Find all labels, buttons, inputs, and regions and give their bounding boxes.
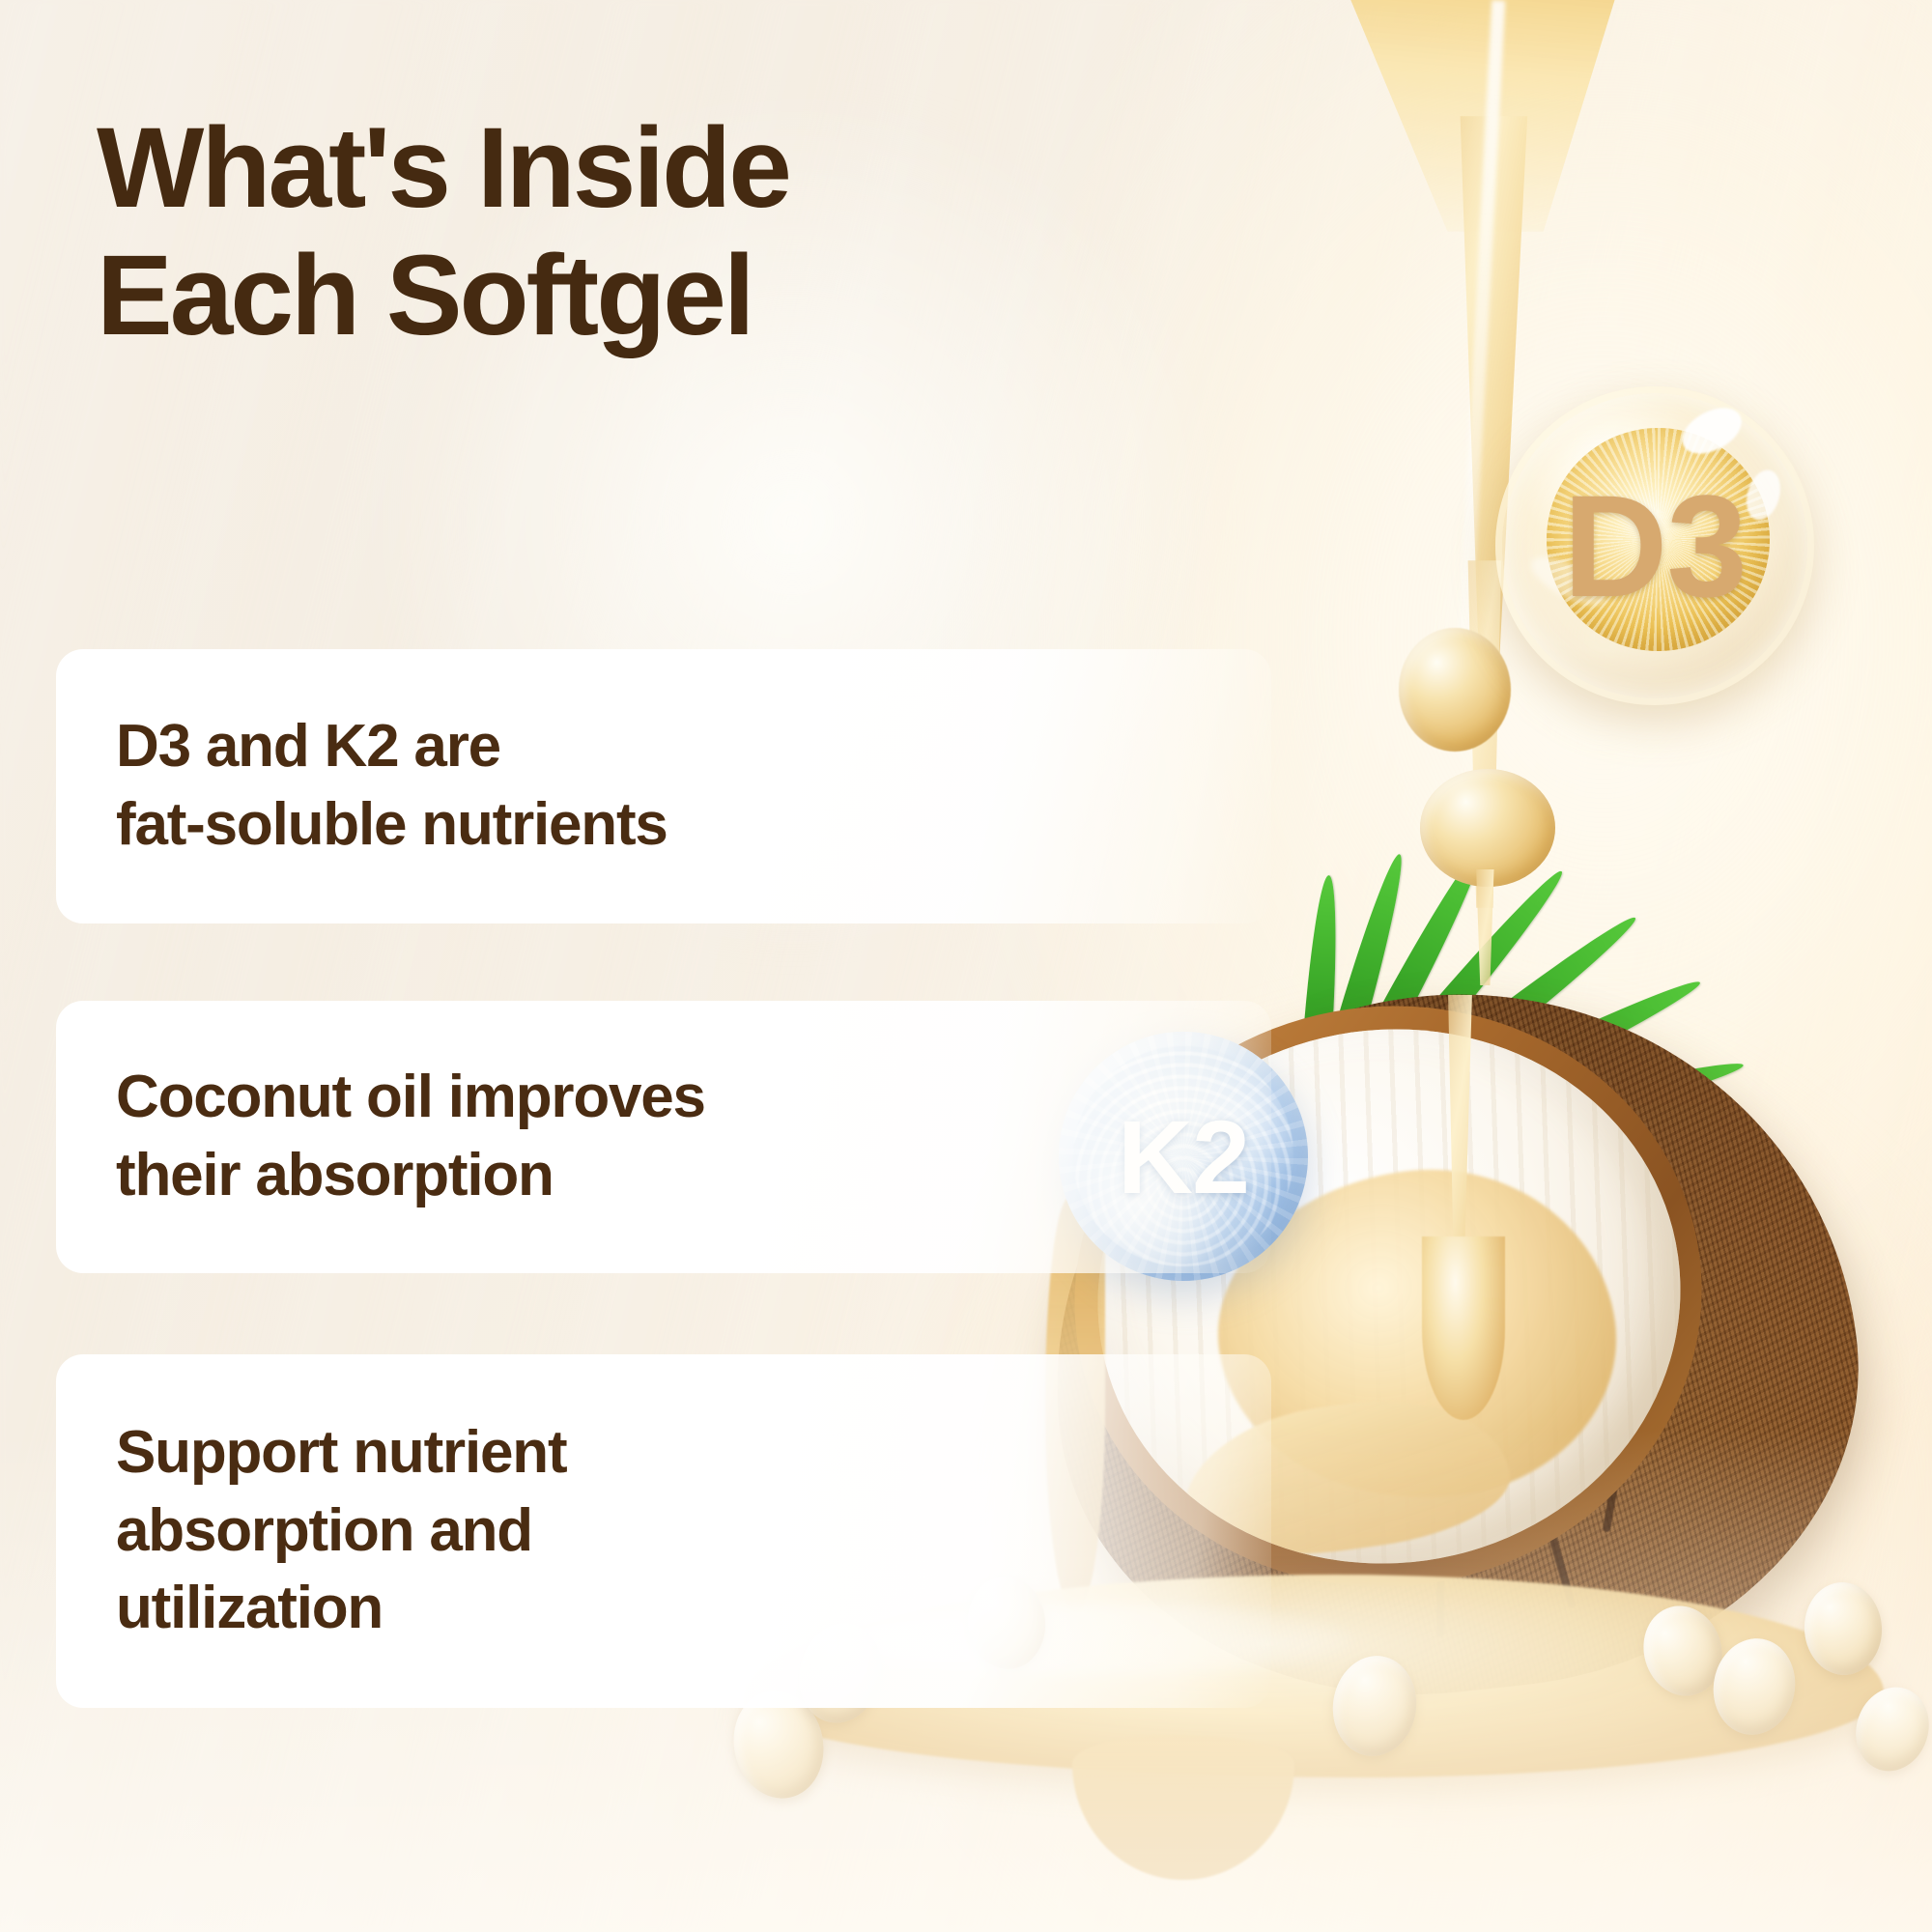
page-title-line-1: What's Inside [97,104,1236,232]
benefit-card-3-text: Support nutrient absorption and utilizat… [116,1414,566,1648]
benefit-card-1: D3 and K2 are fat-soluble nutrients [56,649,1271,923]
d3-bubble-label: D3 [1495,386,1814,705]
oil-drip-column [1408,995,1515,1459]
infographic-canvas: D3 K2 What's Inside Each Softgel D3 and … [0,0,1932,1932]
benefit-card-2: Coconut oil improves their absorption [56,1001,1271,1273]
page-title: What's Inside Each Softgel [97,104,1236,359]
benefit-card-3: Support nutrient absorption and utilizat… [56,1354,1271,1708]
benefit-card-1-text: D3 and K2 are fat-soluble nutrients [116,708,668,864]
page-title-line-2: Each Softgel [97,232,1236,359]
d3-bubble-icon: D3 [1495,386,1814,705]
benefit-card-2-text: Coconut oil improves their absorption [116,1059,705,1214]
